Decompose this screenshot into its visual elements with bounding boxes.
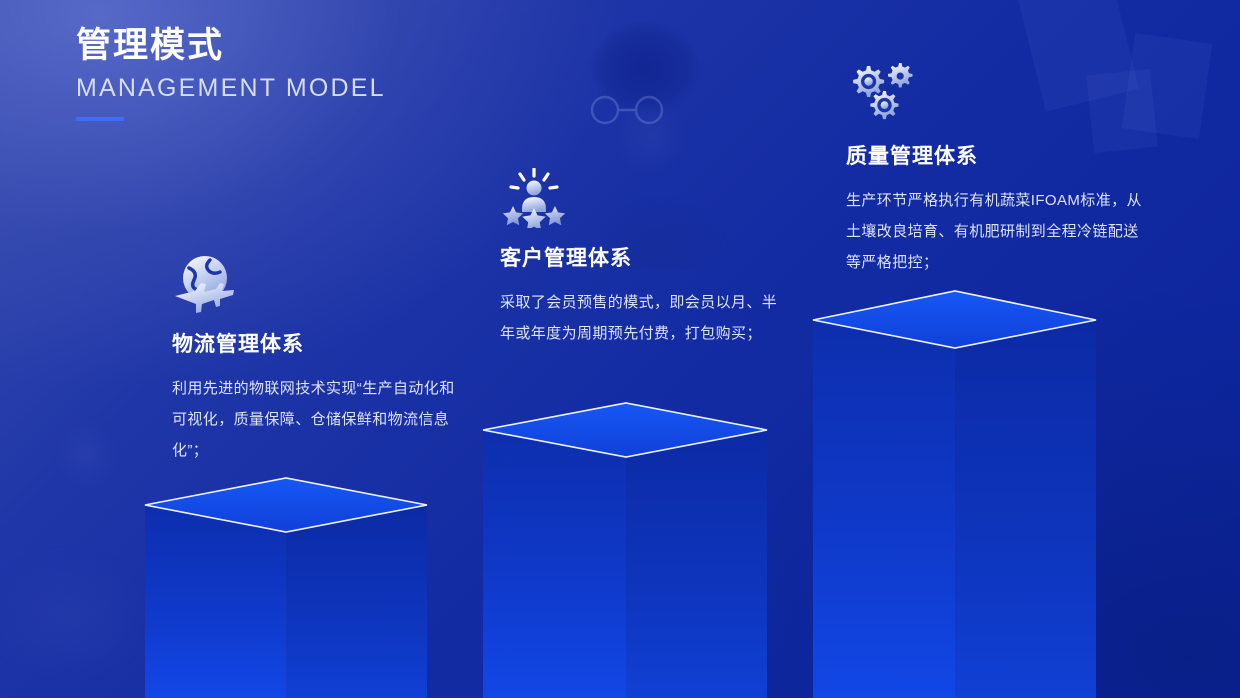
column-body: 利用先进的物联网技术实现“生产自动化和可视化，质量保障、仓储保鲜和物流信息化”； [172,374,464,466]
page-title-cn: 管理模式 [76,24,386,68]
content-column-quality[interactable]: 质量管理体系 生产环节严格执行有机蔬菜IFOAM标准，从土壤改良培育、有机肥研制… [846,62,1142,278]
column-heading: 质量管理体系 [846,140,1142,170]
gears-icon [846,62,916,126]
slide-header: 管理模式 MANAGEMENT MODEL [76,24,386,121]
isometric-box-3 [813,291,1096,698]
isometric-box-2 [483,403,767,698]
content-column-customer[interactable]: 客户管理体系 采取了会员预售的模式，即会员以月、半年或年度为周期预先付费，打包购… [500,168,788,350]
column-heading: 客户管理体系 [500,242,788,272]
column-body: 生产环节严格执行有机蔬菜IFOAM标准，从土壤改良培育、有机肥研制到全程冷链配送… [846,186,1142,278]
column-body: 采取了会员预售的模式，即会员以月、半年或年度为周期预先付费，打包购买； [500,288,788,350]
content-column-logistics[interactable]: 物流管理体系 利用先进的物联网技术实现“生产自动化和可视化，质量保障、仓储保鲜和… [172,252,464,466]
page-title-en: MANAGEMENT MODEL [76,74,386,103]
globe-airplane-icon [172,252,236,314]
slide-canvas: 管理模式 MANAGEMENT MODEL 物流管理体系 利用先进的物联网技术实… [0,0,1240,698]
title-accent-bar [76,117,124,121]
column-heading: 物流管理体系 [172,328,464,358]
vip-customer-stars-icon [500,168,568,228]
ghost-glasses-icon [585,95,671,125]
isometric-box-1 [145,478,427,698]
accent-lines-group [95,462,1128,698]
